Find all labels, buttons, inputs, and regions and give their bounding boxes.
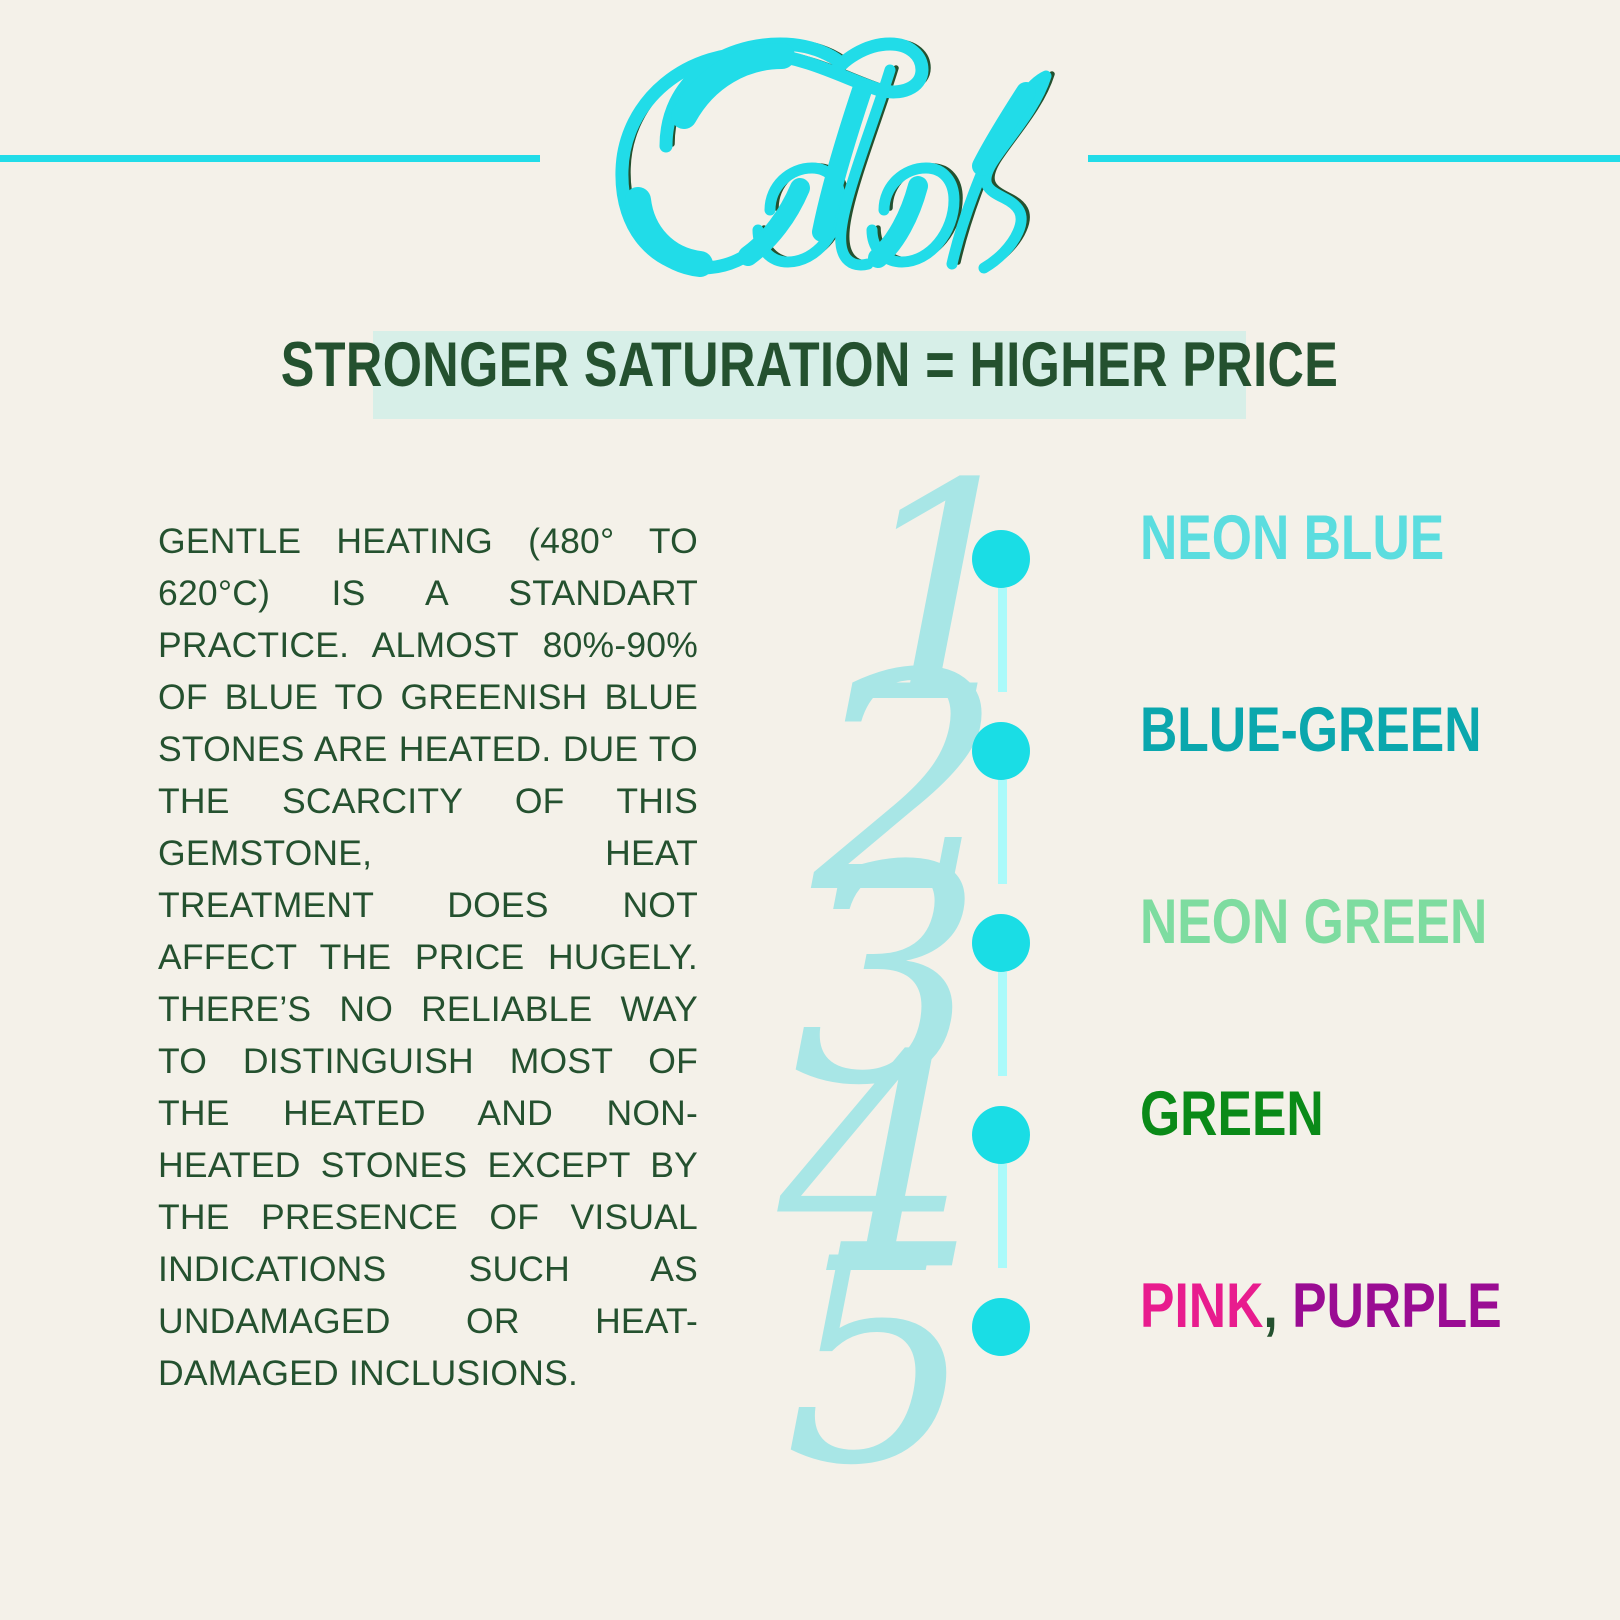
ranking-label-separator: , — [1263, 1271, 1292, 1341]
body-paragraph: GENTLE HEATING (480° TO 620°C) IS A STAN… — [158, 515, 698, 1399]
ranking-numerals: 1 2 3 4 5 — [770, 455, 1000, 1415]
track-connector-2-3 — [998, 780, 1007, 884]
ranking-label-neon-green: NEON GREEN — [1140, 891, 1487, 954]
track-connector-3-4 — [998, 972, 1007, 1076]
header — [0, 0, 1620, 300]
header-rule-right — [1088, 155, 1620, 162]
ranking-label-neon-blue: NEON BLUE — [1140, 507, 1444, 570]
ranking-label-pink: PINK — [1140, 1271, 1263, 1341]
ranking-dot-4[interactable] — [972, 1106, 1030, 1164]
ranking-dot-3[interactable] — [972, 914, 1030, 972]
ranking-label-pink-purple: PINK, PURPLE — [1140, 1275, 1502, 1338]
ranking-dot-5[interactable] — [972, 1298, 1030, 1356]
ranking-dot-1[interactable] — [972, 530, 1030, 588]
page-title-script — [470, 20, 1150, 300]
header-rule-left — [0, 155, 540, 162]
ranking-label-green: GREEN — [1140, 1083, 1324, 1146]
ranking-numeral-3: 3 — [792, 827, 983, 1127]
ranking-dot-2[interactable] — [972, 722, 1030, 780]
track-connector-4-5 — [998, 1164, 1007, 1268]
track-connector-1-2 — [998, 588, 1007, 692]
ranking-numeral-4: 4 — [778, 1017, 969, 1317]
ranking-label-purple: PURPLE — [1292, 1271, 1502, 1341]
ranking-track — [972, 500, 1032, 1360]
ranking-numeral-5: 5 — [784, 1207, 975, 1507]
ranking-labels: NEON BLUE BLUE-GREEN NEON GREEN GREEN PI… — [1140, 455, 1610, 1415]
ranking-label-blue-green: BLUE-GREEN — [1140, 699, 1482, 762]
subtitle-text: STRONGER SATURATION = HIGHER PRICE — [460, 320, 1158, 410]
